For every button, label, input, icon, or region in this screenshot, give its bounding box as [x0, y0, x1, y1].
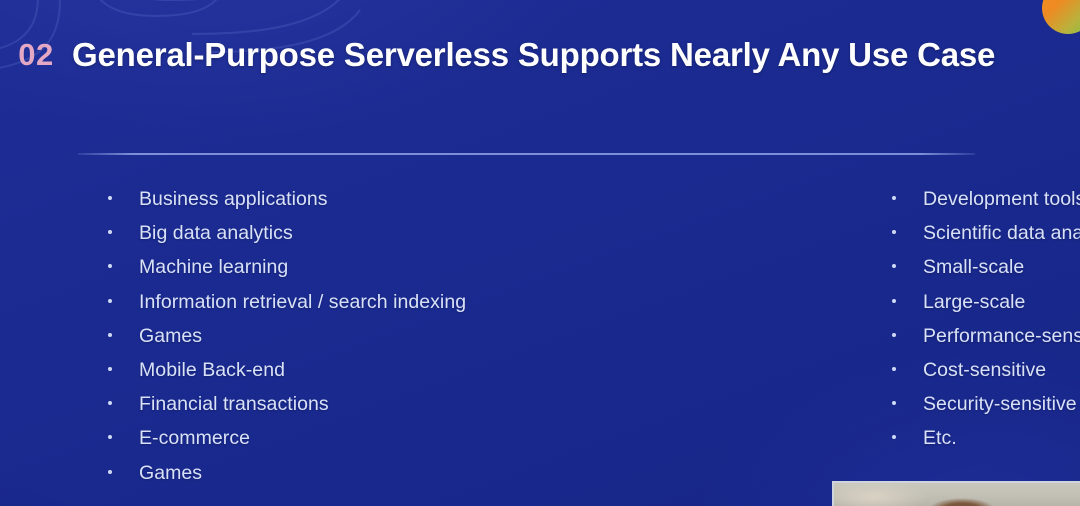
list-item-label: Security-sensitive [923, 393, 1077, 416]
list-item-label: Financial transactions [139, 393, 329, 416]
slide-header: 02 General-Purpose Serverless Supports N… [0, 24, 1080, 86]
list-item-label: Cost-sensitive [923, 359, 1046, 382]
list-item-label: Large-scale [923, 291, 1025, 314]
bullet-dot-icon [108, 401, 112, 405]
list-item-label: Games [139, 462, 202, 485]
list-item-label: Machine learning [139, 256, 288, 279]
presenter-video-thumbnail[interactable] [832, 481, 1080, 506]
bullet-dot-icon [892, 264, 896, 268]
list-item-label: Development tools / compilers [923, 188, 1080, 211]
bullet-dot-icon [108, 435, 112, 439]
bullet-dot-icon [108, 333, 112, 337]
page-title: General-Purpose Serverless Supports Near… [72, 36, 995, 74]
bullet-dot-icon [892, 435, 896, 439]
list-item-label: Big data analytics [139, 222, 293, 245]
bullet-dot-icon [108, 230, 112, 234]
list-item-label: Etc. [923, 427, 957, 450]
bullet-dot-icon [892, 401, 896, 405]
bullet-dot-icon [892, 367, 896, 371]
presentation-slide: 02 General-Purpose Serverless Supports N… [0, 0, 1080, 506]
bullet-dot-icon [108, 196, 112, 200]
bullet-dot-icon [892, 196, 896, 200]
bullet-dot-icon [892, 230, 896, 234]
list-item-label: Mobile Back-end [139, 359, 285, 382]
content-columns: Business applications Big data analytics… [0, 186, 1080, 496]
bullet-dot-icon [108, 470, 112, 474]
list-item-label: Performance-sensitive [923, 325, 1080, 348]
bullet-list-right: Development tools / compilers Scientific… [332, 186, 892, 496]
list-item-label: Scientific data analysis [923, 222, 1080, 245]
list-item-label: Business applications [139, 188, 328, 211]
slide-number: 02 [0, 37, 72, 73]
bullet-dot-icon [108, 264, 112, 268]
bullet-dot-icon [108, 299, 112, 303]
list-item-label: Small-scale [923, 256, 1024, 279]
list-item-label: Games [139, 325, 202, 348]
bullet-dot-icon [892, 333, 896, 337]
list-item-label: E-commerce [139, 427, 250, 450]
bullet-dot-icon [892, 299, 896, 303]
bullet-dot-icon [108, 367, 112, 371]
header-divider [78, 153, 975, 155]
